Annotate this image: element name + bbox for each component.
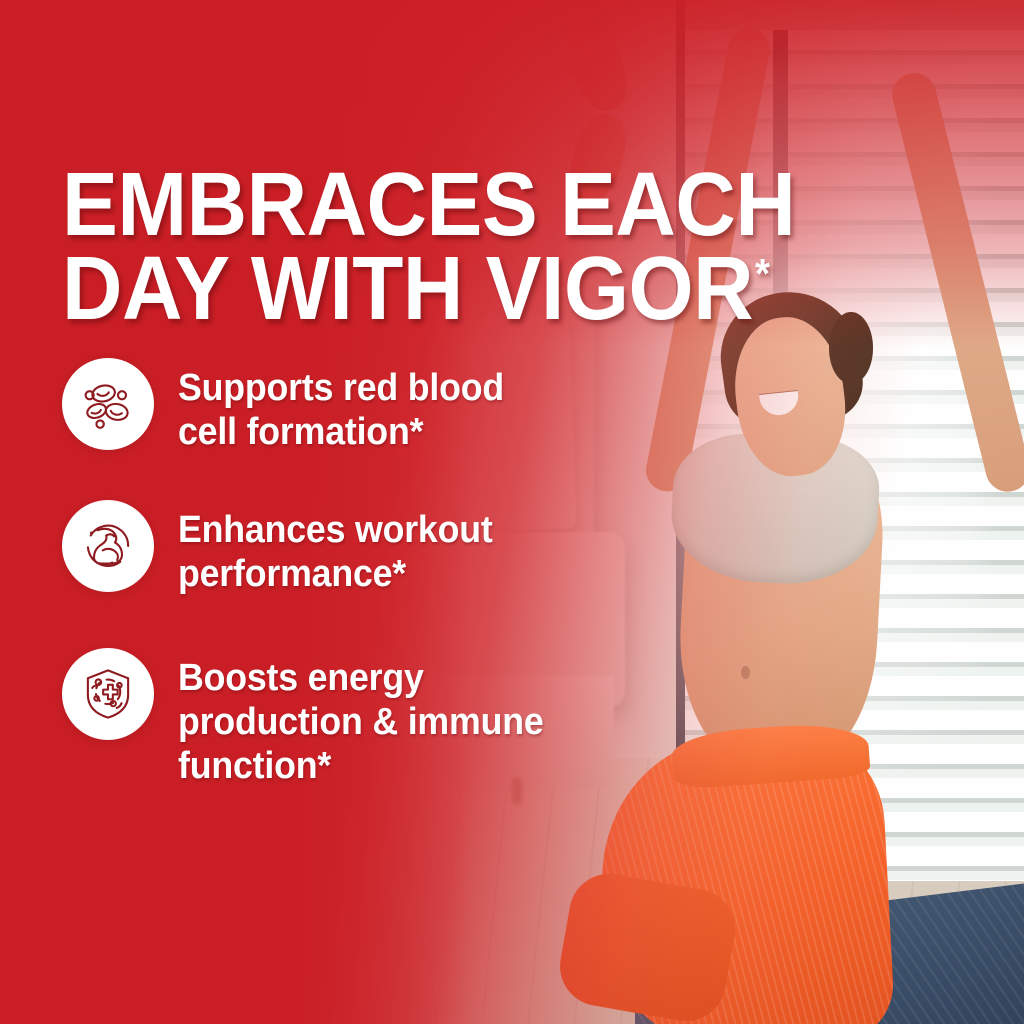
list-item: Supports red blood cell formation* [62,358,682,454]
headline-line-2: DAY WITH VIGOR* [62,248,880,332]
benefits-list: Supports red blood cell formation* [62,358,682,789]
list-item: Boosts energy production & immune functi… [62,648,682,788]
benefit-line: Supports red blood [178,366,504,410]
list-item: Enhances workout performance* [62,500,682,596]
benefit-line: production & immune [178,700,544,744]
ad-content: EMBRACES EACH DAY WITH VIGOR* [0,0,1024,1024]
shield-medical-cross-icon [62,648,154,740]
benefit-line: performance* [178,552,493,596]
flexing-bicep-icon [62,500,154,592]
page-title: EMBRACES EACH DAY WITH VIGOR* [62,164,880,331]
benefit-line: function* [178,744,544,788]
benefit-text: Supports red blood cell formation* [178,358,504,454]
benefit-text: Boosts energy production & immune functi… [178,648,544,788]
headline-line-1: EMBRACES EACH [62,164,880,248]
red-blood-cells-icon [62,358,154,450]
benefit-text: Enhances workout performance* [178,500,493,596]
benefit-line: cell formation* [178,410,504,454]
benefit-line: Boosts energy [178,656,544,700]
headline-asterisk: * [755,251,770,297]
benefit-line: Enhances workout [178,508,493,552]
supplement-benefits-ad: EMBRACES EACH DAY WITH VIGOR* [0,0,1024,1024]
headline-line-2-text: DAY WITH VIGOR [62,239,753,339]
